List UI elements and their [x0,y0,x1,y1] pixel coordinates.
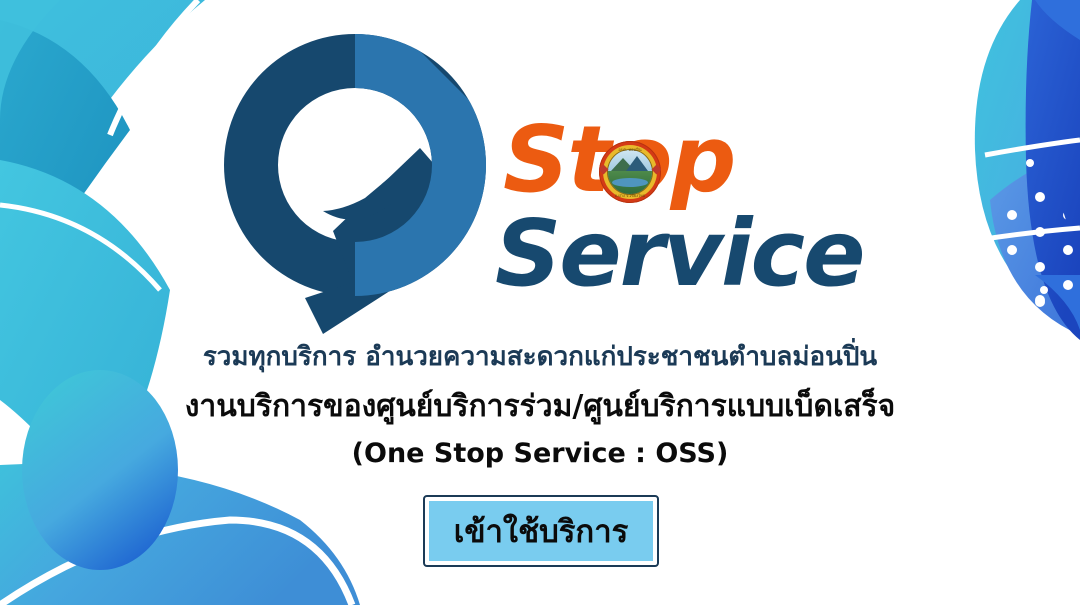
tagline-line-2: งานบริการของศูนย์บริการร่วม/ศูนย์บริการแ… [0,383,1080,430]
municipal-seal-icon: อบต. ม่อนปิ่น อ.ฝาง จ.เชียงใหม่ [599,141,661,203]
one-stop-service-banner: Stop อบต. ม่อนปิ่น อ.ฝาง [0,0,1080,605]
seal-text-top: อบต. ม่อนปิ่น [599,147,661,152]
seal-mountain-right [626,156,648,171]
tagline-line-1: รวมทุกบริการ อำนวยความสะดวกแก่ประชาชนตำบ… [0,336,1080,377]
tagline-line-3: (One Stop Service : OSS) [0,438,1080,469]
logo-block: Stop อบต. ม่อนปิ่น อ.ฝาง [0,18,1080,328]
word-service: Service [495,208,863,300]
seal-water [612,178,648,187]
wordmark: Stop อบต. ม่อนปิ่น อ.ฝาง [495,108,915,333]
enter-service-button-fill[interactable]: เข้าใช้บริการ [429,501,653,561]
seal-text-bottom: อ.ฝาง จ.เชียงใหม่ [599,193,661,198]
spiral-nine-icon [205,26,505,336]
seal-inner-scene [608,150,652,194]
enter-service-button[interactable]: เข้าใช้บริการ [423,495,659,567]
enter-service-button-label: เข้าใช้บริการ [454,506,629,556]
